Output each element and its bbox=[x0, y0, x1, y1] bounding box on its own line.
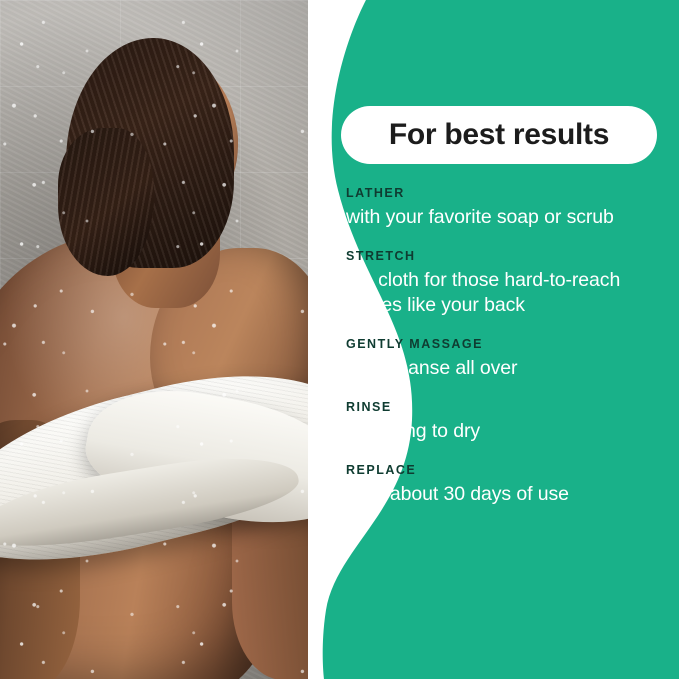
step-label: RINSE bbox=[346, 400, 670, 414]
step-text: with your favorite soap or scrub bbox=[346, 205, 670, 231]
step-text: after about 30 days of use bbox=[346, 482, 670, 508]
step-label: GENTLY MASSAGE bbox=[346, 337, 670, 351]
step-text: and cleanse all over bbox=[346, 356, 670, 382]
step-label: LATHER bbox=[346, 186, 670, 200]
step-item: GENTLY MASSAGE and cleanse all over bbox=[346, 337, 670, 382]
step-label: STRETCH bbox=[346, 249, 670, 263]
instructions-content: For best results LATHER with your favori… bbox=[341, 0, 679, 679]
step-label: REPLACE bbox=[346, 463, 670, 477]
step-item: LATHER with your favorite soap or scrub bbox=[346, 186, 670, 231]
step-text: the cloth for those hard-to-reach places… bbox=[346, 268, 670, 319]
steps-list: LATHER with your favorite soap or scrub … bbox=[346, 186, 670, 525]
headline-text: For best results bbox=[389, 118, 609, 152]
step-item: RINSE and hang to dry bbox=[346, 400, 670, 445]
headline-pill: For best results bbox=[341, 106, 657, 164]
step-text: and hang to dry bbox=[346, 419, 670, 445]
product-instruction-graphic: For best results LATHER with your favori… bbox=[0, 0, 679, 679]
step-item: STRETCH the cloth for those hard-to-reac… bbox=[346, 249, 670, 319]
step-item: REPLACE after about 30 days of use bbox=[346, 463, 670, 508]
